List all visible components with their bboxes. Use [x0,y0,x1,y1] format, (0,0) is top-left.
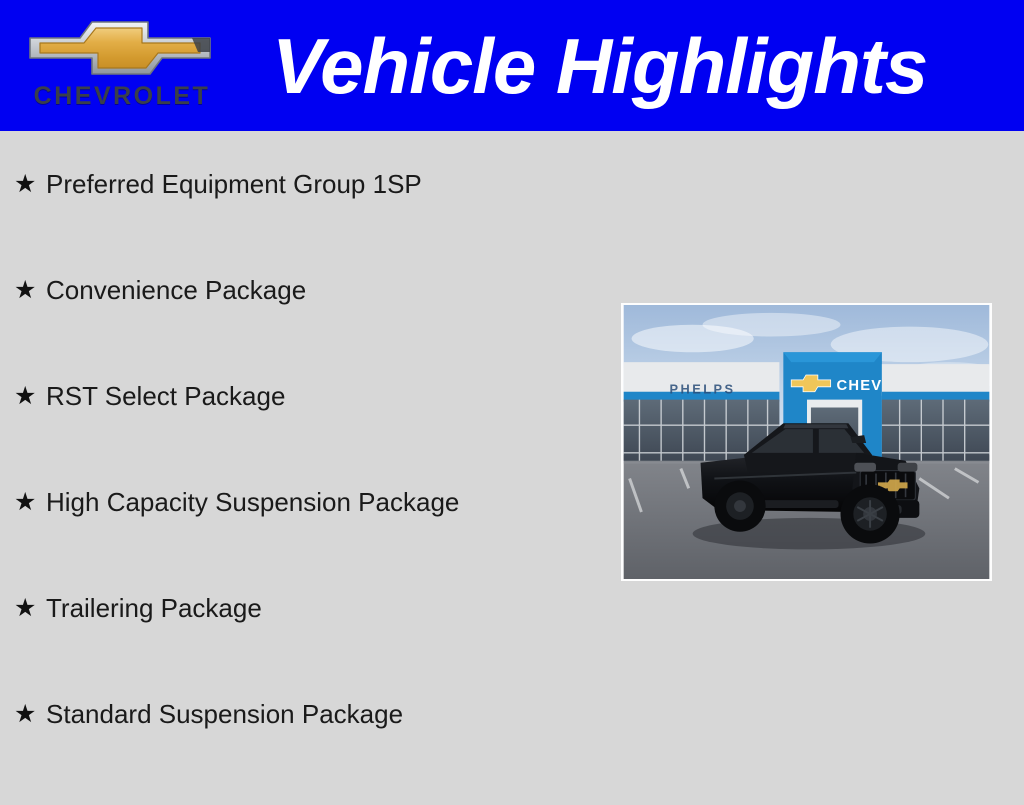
list-item: ★ RST Select Package [0,381,600,487]
highlight-label: RST Select Package [46,381,600,411]
svg-text:PHELPS: PHELPS [670,382,736,397]
star-bullet-icon: ★ [14,593,46,623]
star-bullet-icon: ★ [14,275,46,305]
list-item: ★ Trailering Package [0,593,600,699]
star-bullet-icon: ★ [14,169,46,199]
page-title: Vehicle Highlights [272,27,927,105]
highlight-label: Trailering Package [46,593,600,623]
highlight-label: Convenience Package [46,275,600,305]
list-item: ★ Preferred Equipment Group 1SP [0,131,600,275]
page-header: CHEVROLET Vehicle Highlights [0,0,1024,131]
chevrolet-wordmark: CHEVROLET [26,84,218,109]
star-bullet-icon: ★ [14,381,46,411]
highlight-label: Preferred Equipment Group 1SP [46,169,600,199]
highlight-label: Standard Suspension Package [46,699,600,729]
list-item: ★ High Capacity Suspension Package [0,487,600,593]
star-bullet-icon: ★ [14,699,46,729]
list-item: ★ Convenience Package [0,275,600,381]
star-bullet-icon: ★ [14,487,46,517]
chevrolet-bowtie-icon [22,12,218,84]
vehicle-highlights-list: ★ Preferred Equipment Group 1SP ★ Conven… [0,131,600,805]
highlight-label: High Capacity Suspension Package [46,487,600,517]
vehicle-photo: PHELPS CHEVROLET [621,303,992,581]
list-item: ★ Standard Suspension Package [0,699,600,805]
chevrolet-logo: CHEVROLET [22,12,218,118]
